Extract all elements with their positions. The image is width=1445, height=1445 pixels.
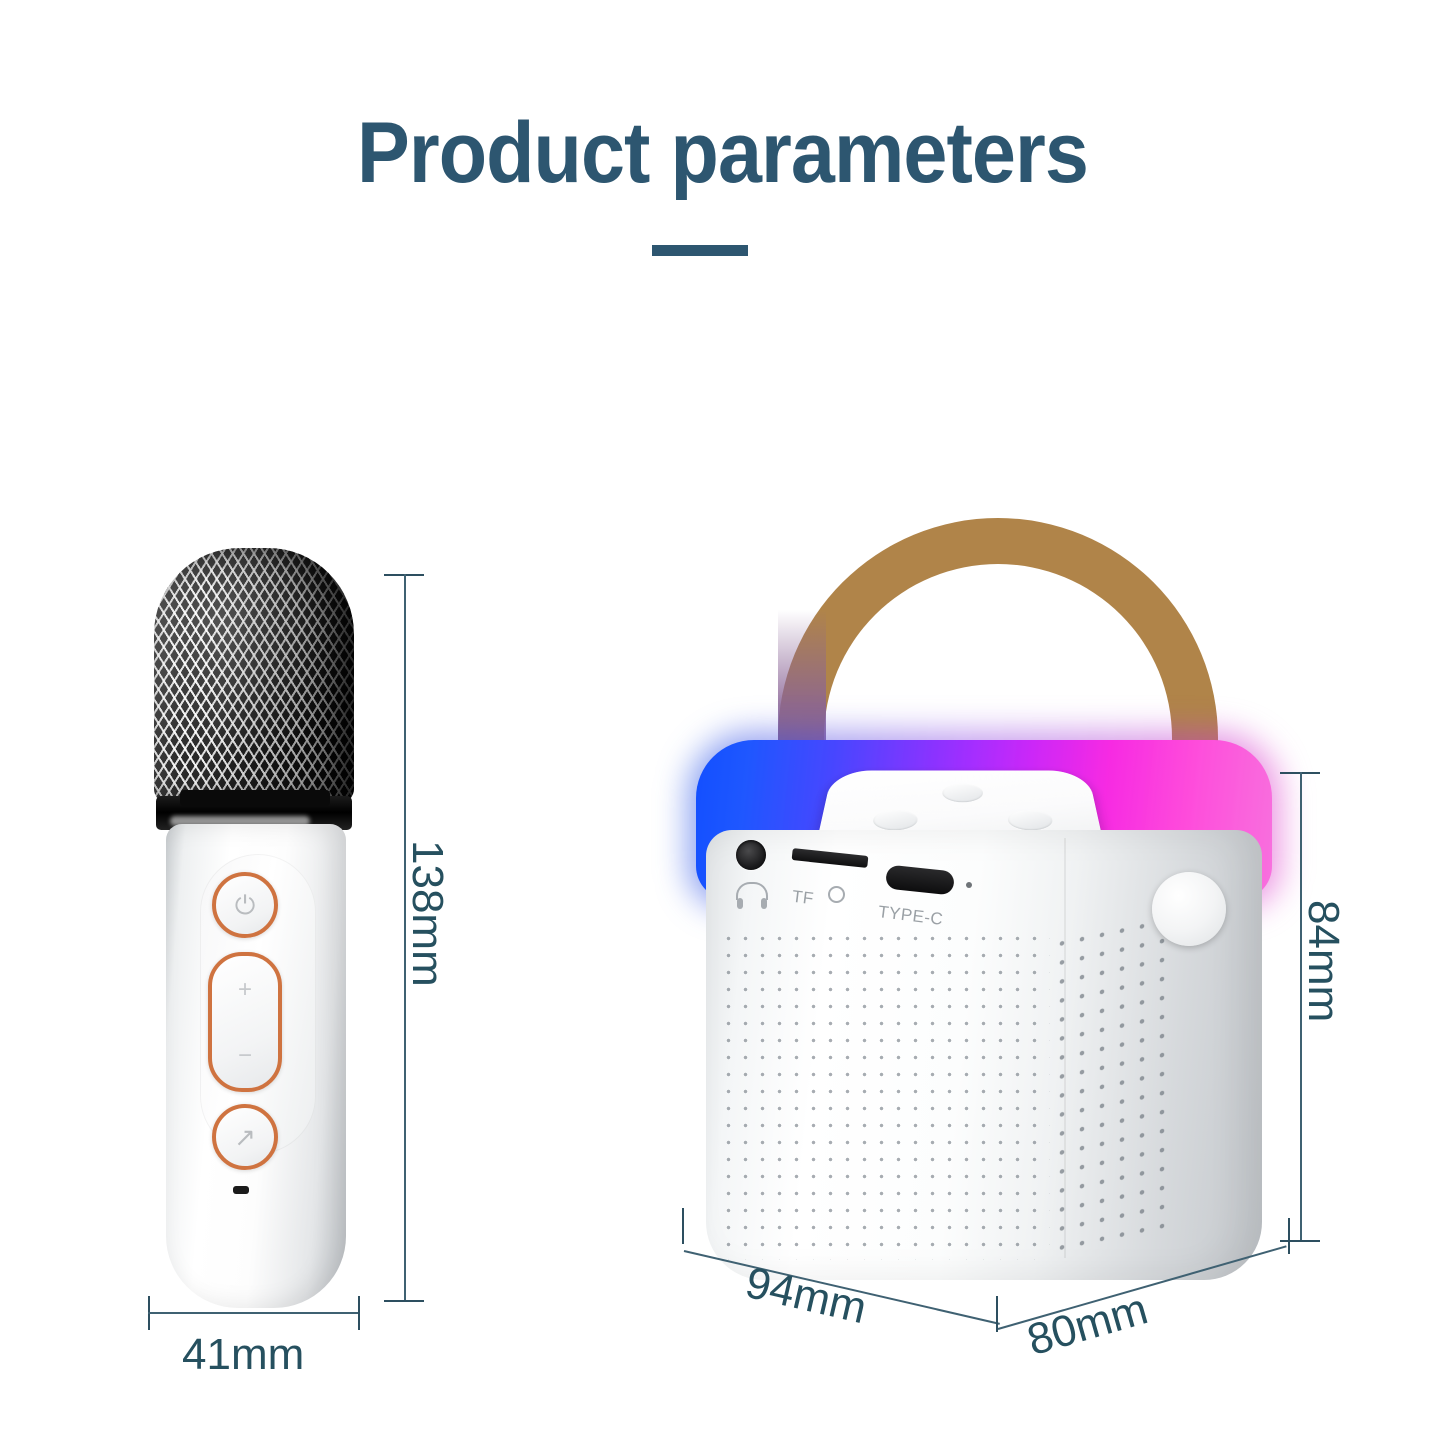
- product-parameters-page: Product parameters ⏻ + − ↗ 138mm 41mm: [0, 0, 1445, 1445]
- usb-indicator-dot: [966, 882, 972, 888]
- speaker-width-left-cap: [996, 1296, 998, 1332]
- mic-height-label: 138mm: [402, 840, 452, 987]
- headphone-icon: [736, 882, 768, 900]
- volume-up-icon: +: [238, 978, 252, 1002]
- speaker-width-right-cap: [1288, 1218, 1290, 1254]
- tf-port-label: TF: [791, 887, 815, 910]
- mic-width-line: [148, 1312, 360, 1314]
- mic-width-right-cap: [358, 1296, 360, 1330]
- speaker-height-label: 84mm: [1298, 900, 1348, 1022]
- speaker-grille-front: [720, 930, 1050, 1260]
- strap-attachment-knob[interactable]: [1152, 872, 1226, 946]
- power-icon: ⏻: [235, 892, 256, 918]
- title-underline-accent: [652, 245, 748, 256]
- effects-icon: ↗: [234, 1124, 256, 1150]
- speaker-height-bottom-cap: [1280, 1240, 1320, 1242]
- microphone-volume-rocker[interactable]: + −: [208, 952, 282, 1092]
- mic-height-bottom-cap: [384, 1300, 424, 1302]
- headphone-jack-port[interactable]: [736, 840, 766, 870]
- microphone-illustration: ⏻ + − ↗: [140, 548, 370, 1308]
- speaker-illustration: TF TYPE-C: [660, 500, 1300, 1290]
- volume-down-icon: −: [238, 1044, 252, 1068]
- microphone-effects-button[interactable]: ↗: [212, 1104, 278, 1170]
- speaker-width-label: 80mm: [1022, 1284, 1153, 1366]
- microphone-mesh-head: [154, 548, 354, 803]
- speaker-depth-left-cap: [682, 1208, 684, 1244]
- speaker-previous-button[interactable]: [872, 810, 918, 830]
- speaker-power-button[interactable]: [942, 784, 983, 802]
- tf-card-icon: [828, 886, 845, 903]
- microphone-led-indicator: [233, 1186, 249, 1194]
- page-title: Product parameters: [58, 104, 1387, 203]
- mic-width-label: 41mm: [182, 1330, 304, 1380]
- speaker-next-button[interactable]: [1007, 810, 1054, 830]
- microphone-power-button[interactable]: ⏻: [212, 872, 278, 938]
- speaker-grille-side: [1052, 910, 1172, 1254]
